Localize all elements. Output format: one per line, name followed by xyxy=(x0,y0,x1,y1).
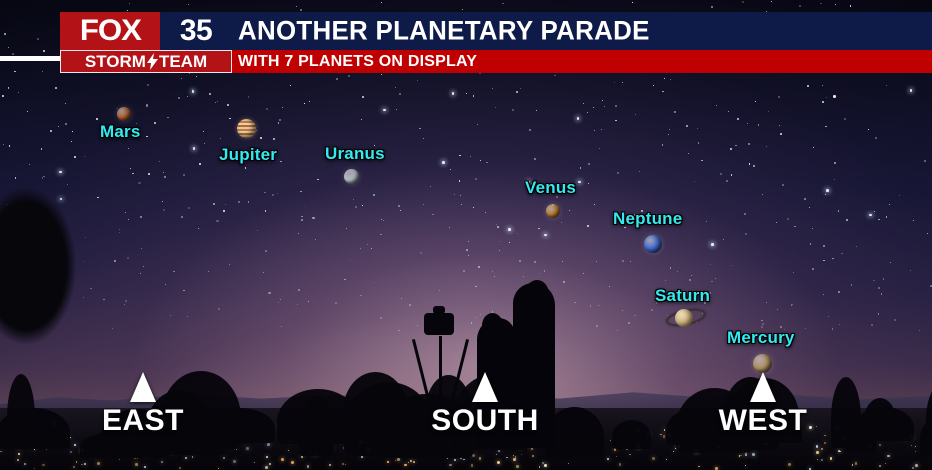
subtitle-bar: WITH 7 PLANETS ON DISPLAY xyxy=(228,50,932,73)
storm-label: STORM xyxy=(85,52,146,72)
planet-body-mars xyxy=(117,107,131,121)
planet-body-saturn xyxy=(675,309,693,327)
camera-icon xyxy=(424,313,454,335)
planet-label-venus: Venus xyxy=(525,178,576,198)
planet-body-jupiter xyxy=(237,119,256,138)
planet-label-mercury: Mercury xyxy=(727,328,795,348)
page-subtitle: WITH 7 PLANETS ON DISPLAY xyxy=(238,53,477,71)
lightning-bolt-icon xyxy=(147,53,158,70)
triangle-pointer-icon xyxy=(750,372,776,402)
planet-body-mercury xyxy=(753,354,772,373)
direction-label: EAST xyxy=(73,404,213,438)
storm-team-badge: STORM TEAM xyxy=(60,50,232,73)
planet-body-venus xyxy=(546,204,560,218)
person-head xyxy=(482,313,503,338)
fox-wordmark-text: FOX xyxy=(79,14,140,48)
triangle-pointer-icon xyxy=(130,372,156,402)
planet-label-neptune: Neptune xyxy=(613,209,682,229)
planet-label-saturn: Saturn xyxy=(655,286,710,306)
planet-label-uranus: Uranus xyxy=(325,144,385,164)
triangle-pointer-icon xyxy=(472,372,498,402)
tree-silhouette-left xyxy=(0,140,110,350)
fox-wordmark: FOX xyxy=(60,12,160,50)
direction-marker-east: EAST xyxy=(73,372,213,438)
channel-number-badge: 35 xyxy=(160,12,232,50)
broadcast-graphic: MarsJupiterUranusVenusNeptuneSaturnMercu… xyxy=(0,0,932,470)
direction-marker-south: SOUTH xyxy=(415,372,555,438)
storm-team-text: STORM TEAM xyxy=(85,52,207,72)
channel-number-text: 35 xyxy=(180,14,212,48)
planet-body-neptune xyxy=(644,235,662,253)
planet-body-uranus xyxy=(344,169,359,184)
page-title: ANOTHER PLANETARY PARADE xyxy=(238,16,650,47)
title-bar: ANOTHER PLANETARY PARADE xyxy=(228,12,932,50)
planet-label-jupiter: Jupiter xyxy=(219,145,277,165)
fox-35-logo: FOX 35 xyxy=(60,12,232,50)
direction-label: WEST xyxy=(693,404,833,438)
direction-marker-west: WEST xyxy=(693,372,833,438)
person-head xyxy=(525,280,549,308)
planet-label-mars: Mars xyxy=(100,122,141,142)
team-label: TEAM xyxy=(159,52,207,72)
direction-label: SOUTH xyxy=(415,404,555,438)
